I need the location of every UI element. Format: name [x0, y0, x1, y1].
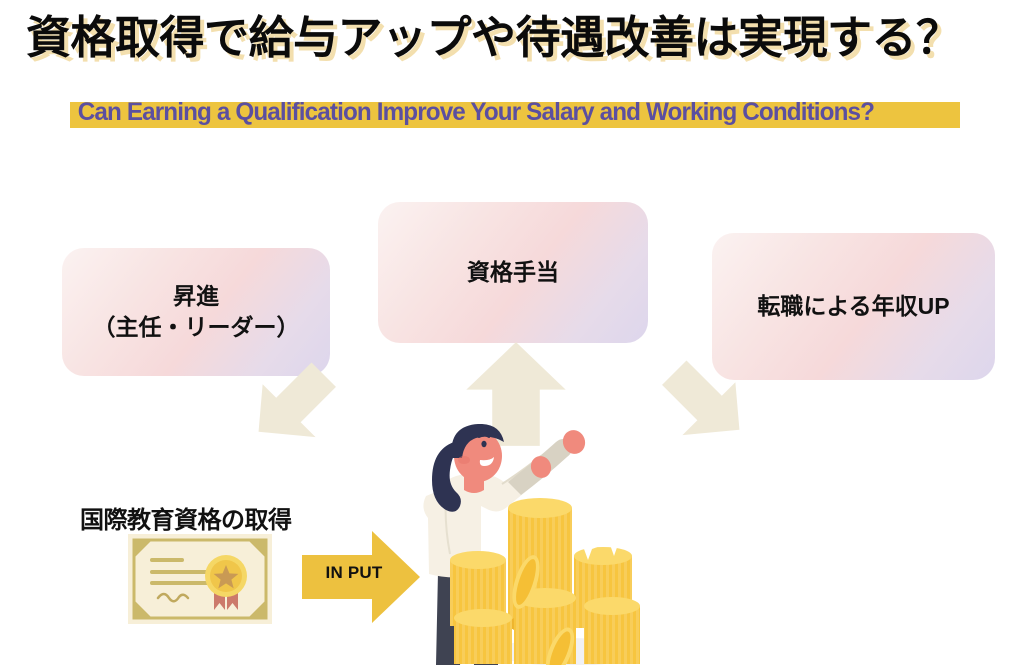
outcome-box-salary-up[interactable]: 転職による年収UP [712, 233, 995, 380]
outcome-box-promotion[interactable]: 昇進 （主任・リーダー） [62, 248, 330, 376]
slide-canvas: 資格取得で給与アップや待遇改善は実現する？ Can Earning a Qual… [0, 0, 1024, 665]
input-label: 国際教育資格の取得 [80, 500, 292, 535]
subtitle-block: Can Earning a Qualification Improve Your… [70, 96, 899, 128]
outcome-box-promotion-label: 昇進 （主任・リーダー） [83, 281, 310, 343]
page-subtitle: Can Earning a Qualification Improve Your… [70, 98, 874, 127]
outcome-box-salary-up-label: 転職による年収UP [747, 291, 959, 322]
input-arrow-icon [302, 531, 420, 623]
outcome-box-allowance-label: 資格手当 [457, 257, 569, 288]
outcome-line-2: （主任・リーダー） [93, 314, 300, 340]
arrow-up-right-icon [648, 360, 744, 456]
outcome-line-1: 昇進 [173, 283, 219, 309]
outcome-box-allowance[interactable]: 資格手当 [378, 202, 648, 343]
certificate-icon [128, 534, 272, 624]
page-title: 資格取得で給与アップや待遇改善は実現する？ [26, 12, 1006, 64]
arrow-up-left-icon [254, 362, 350, 458]
woman-celebrating-with-coins-illustration [408, 424, 648, 665]
